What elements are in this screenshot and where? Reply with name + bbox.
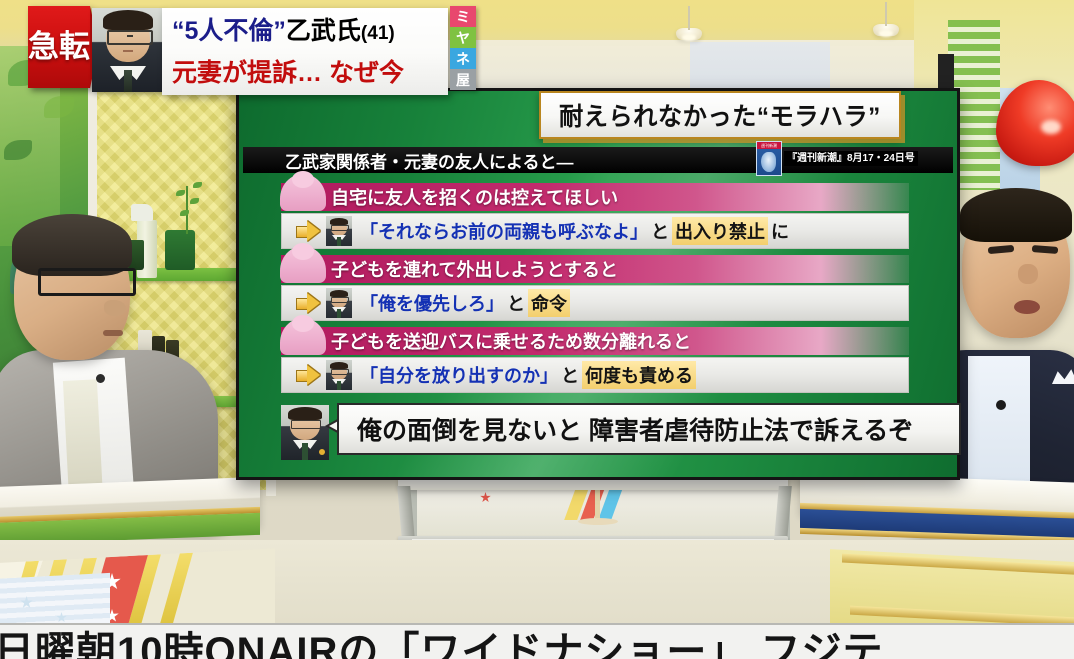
left-guest-glasses: [38, 268, 136, 296]
headline-line-1: “5人不倫”乙武氏(41): [172, 11, 448, 54]
otake-portrait: [281, 405, 329, 460]
left-guest-mic: [96, 374, 105, 383]
board-row: 自宅に友人を招くのは控えてほしい 「それならお前の両親も呼ぶなよ」 と 出入り禁…: [281, 183, 909, 249]
response-highlight: 命令: [528, 289, 570, 317]
response-bar: 「自分を放り出すのか」 と 何度も責める: [281, 357, 909, 393]
response-bar: 「それならお前の両親も呼ぶなよ」 と 出入り禁止 に: [281, 213, 909, 249]
otake-face-icon: [326, 288, 352, 318]
wife-silhouette-icon: [280, 174, 326, 211]
quote-bubble: 俺の面倒を見ないと 障害者虐待防止法で訴えるぞ: [337, 403, 961, 455]
table-goblet: [595, 490, 600, 520]
headline-quote: “5人不倫”: [172, 17, 286, 45]
complaint-bar: 子どもを送迎バスに乗せるため数分離れると: [281, 327, 909, 355]
complaint-text: 自宅に友人を招くのは控えてほしい: [331, 184, 618, 210]
response-quote: 「それならお前の両親も呼ぶなよ」: [360, 218, 648, 244]
response-text: 「俺を優先しろ」 と 命令: [360, 289, 576, 317]
quote-bubble-text: 俺の面倒を見ないと 障害者虐待防止法で訴えるぞ: [357, 411, 913, 447]
right-host-hair: [960, 188, 1072, 242]
breaking-badge: 急転: [28, 6, 90, 88]
arrow-right-icon: [296, 293, 320, 313]
headline-line-2: 元妻が提訴… なぜ今: [172, 54, 448, 92]
right-host-nose: [1018, 264, 1038, 284]
complaint-bar: 子どもを連れて外出しようとすると: [281, 255, 909, 283]
right-host-mic: [996, 400, 1006, 410]
breaking-badge-text: 急転: [28, 32, 90, 62]
response-bar: 「俺を優先しろ」 と 命令: [281, 285, 909, 321]
complaint-bar: 自宅に友人を招くのは控えてほしい: [281, 183, 909, 211]
arrow-right-icon: [296, 365, 320, 385]
magazine-thumbnail-figure: [761, 152, 776, 172]
subtitle-text: 日曜朝10時ONAIRの「ワイドナショー」 フジテ: [0, 623, 884, 659]
logo-char-2: ヤ: [450, 27, 476, 48]
complaint-text: 子どもを送迎バスに乗せるため数分離れると: [331, 328, 691, 354]
response-quote: 「自分を放り出すのか」: [360, 362, 558, 388]
logo-char-1: ミ: [450, 6, 476, 27]
response-tail: に: [771, 218, 789, 244]
tv-broadcast-screenshot: 耐えられなかった“モラハラ” 乙武家関係者・元妻の友人によると― 週刊新潮 『週…: [0, 0, 1074, 659]
otake-mugshot: [92, 8, 164, 92]
quote-bubble-group: 俺の面倒を見ないと 障害者虐待防止法で訴えるぞ: [281, 403, 957, 461]
right-host-mouth: [1014, 300, 1040, 314]
response-connector: と: [651, 218, 669, 244]
plant-pot-upper: [165, 230, 195, 270]
board-row: 子どもを連れて外出しようとすると 「俺を優先しろ」 と 命令: [281, 255, 909, 321]
hanging-lamp-left-glow: [682, 34, 696, 41]
source-bar-text: 乙武家関係者・元妻の友人によると―: [285, 148, 574, 173]
left-guest-mouth: [103, 330, 123, 336]
news-ticker: 急転 “5人不倫”乙武氏(41) 元妻が提訴… なぜ今: [28, 6, 448, 92]
response-text: 「自分を放り出すのか」 と 何度も責める: [360, 361, 702, 389]
logo-char-3: ネ: [450, 48, 476, 69]
left-guest-nose: [104, 300, 126, 316]
wife-silhouette-icon: [280, 318, 326, 355]
response-text: 「それならお前の両親も呼ぶなよ」 と 出入り禁止 に: [360, 217, 792, 245]
response-connector: と: [507, 290, 525, 316]
response-highlight: 何度も責める: [582, 361, 696, 389]
left-guest-hair: [12, 214, 132, 276]
magazine-thumbnail-label: 週刊新潮: [757, 142, 781, 149]
hanging-lamp-right-glow: [879, 30, 893, 37]
board-headline-banner: 耐えられなかった“モラハラ”: [539, 91, 901, 139]
otake-face-icon: [326, 216, 352, 246]
logo-char-4: 屋: [450, 69, 476, 90]
response-quote: 「俺を優先しろ」: [360, 290, 504, 316]
subtitle-bar: 日曜朝10時ONAIRの「ワイドナショー」 フジテ: [0, 623, 1074, 659]
program-logo: ミ ヤ ネ 屋: [450, 6, 476, 90]
board-row: 子どもを送迎バスに乗せるため数分離れると 「自分を放り出すのか」 と 何度も責め…: [281, 327, 909, 393]
otake-face-icon: [326, 360, 352, 390]
headline-age: (41): [361, 23, 395, 44]
wife-silhouette-icon: [280, 246, 326, 283]
info-board: 耐えられなかった“モラハラ” 乙武家関係者・元妻の友人によると― 週刊新潮 『週…: [236, 88, 960, 480]
magazine-thumbnail: 週刊新潮: [756, 141, 782, 176]
arrow-right-icon: [296, 221, 320, 241]
response-highlight: 出入り禁止: [672, 217, 768, 245]
board-headline-text: 耐えられなかった“モラハラ”: [559, 97, 881, 133]
complaint-text: 子どもを連れて外出しようとすると: [331, 256, 618, 282]
response-connector: と: [561, 362, 579, 388]
headline-name: 乙武氏: [286, 17, 361, 45]
headline-panel: “5人不倫”乙武氏(41) 元妻が提訴… なぜ今: [162, 8, 448, 95]
magazine-credit: 『週刊新潮』8月17・24日号: [784, 151, 918, 166]
